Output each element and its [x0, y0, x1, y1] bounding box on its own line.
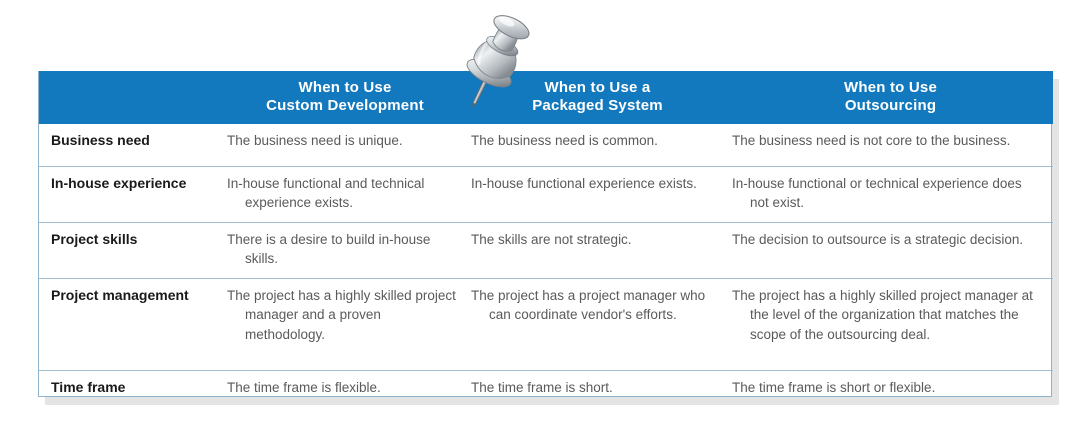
header-packaged-line2: Packaged System [473, 97, 722, 115]
header-outsourcing-line2: Outsourcing [734, 97, 1047, 115]
header-cell-custom-development: When to Use Custom Development [223, 71, 467, 124]
header-row: When to Use Custom Development When to U… [39, 71, 1053, 124]
table-row: In-house experience In-house functional … [39, 166, 1053, 222]
table-header: When to Use Custom Development When to U… [39, 71, 1053, 124]
table-row: Business need The business need is uniqu… [39, 124, 1053, 166]
header-cell-packaged-system: When to Use a Packaged System [467, 71, 728, 124]
header-cell-blank [39, 71, 223, 124]
header-custom-line1: When to Use [229, 79, 461, 97]
header-packaged-line1: When to Use a [473, 79, 722, 97]
cell-project-management-outsourcing: The project has a highly skilled project… [728, 278, 1053, 370]
cell-project-skills-outsourcing: The decision to outsource is a strategic… [728, 222, 1053, 278]
comparison-table: When to Use Custom Development When to U… [39, 71, 1053, 412]
cell-in-house-experience-packaged: In-house functional experience exists. [467, 166, 728, 222]
row-label-project-management: Project management [39, 278, 223, 370]
cell-in-house-experience-outsourcing: In-house functional or technical experie… [728, 166, 1053, 222]
comparison-table-frame: When to Use Custom Development When to U… [38, 71, 1052, 397]
header-custom-line2: Custom Development [229, 97, 461, 115]
cell-business-need-outsourcing: The business need is not core to the bus… [728, 124, 1053, 166]
table-row: Project skills There is a desire to buil… [39, 222, 1053, 278]
table-row: Project management The project has a hig… [39, 278, 1053, 370]
header-outsourcing-line1: When to Use [734, 79, 1047, 97]
cell-in-house-experience-custom: In-house functional and technical experi… [223, 166, 467, 222]
cell-time-frame-packaged: The time frame is short. [467, 370, 728, 412]
header-cell-outsourcing: When to Use Outsourcing [728, 71, 1053, 124]
cell-project-management-packaged: The project has a project manager who ca… [467, 278, 728, 370]
cell-time-frame-outsourcing: The time frame is short or flexible. [728, 370, 1053, 412]
figure-container: When to Use Custom Development When to U… [0, 0, 1069, 428]
cell-time-frame-custom: The time frame is flexible. [223, 370, 467, 412]
cell-project-skills-packaged: The skills are not strategic. [467, 222, 728, 278]
cell-project-management-custom: The project has a highly skilled project… [223, 278, 467, 370]
table-body: Business need The business need is uniqu… [39, 124, 1053, 412]
cell-business-need-packaged: The business need is common. [467, 124, 728, 166]
row-label-time-frame: Time frame [39, 370, 223, 412]
row-label-business-need: Business need [39, 124, 223, 166]
cell-project-skills-custom: There is a desire to build in-house skil… [223, 222, 467, 278]
row-label-in-house-experience: In-house experience [39, 166, 223, 222]
table-row: Time frame The time frame is flexible. T… [39, 370, 1053, 412]
cell-business-need-custom: The business need is unique. [223, 124, 467, 166]
row-label-project-skills: Project skills [39, 222, 223, 278]
